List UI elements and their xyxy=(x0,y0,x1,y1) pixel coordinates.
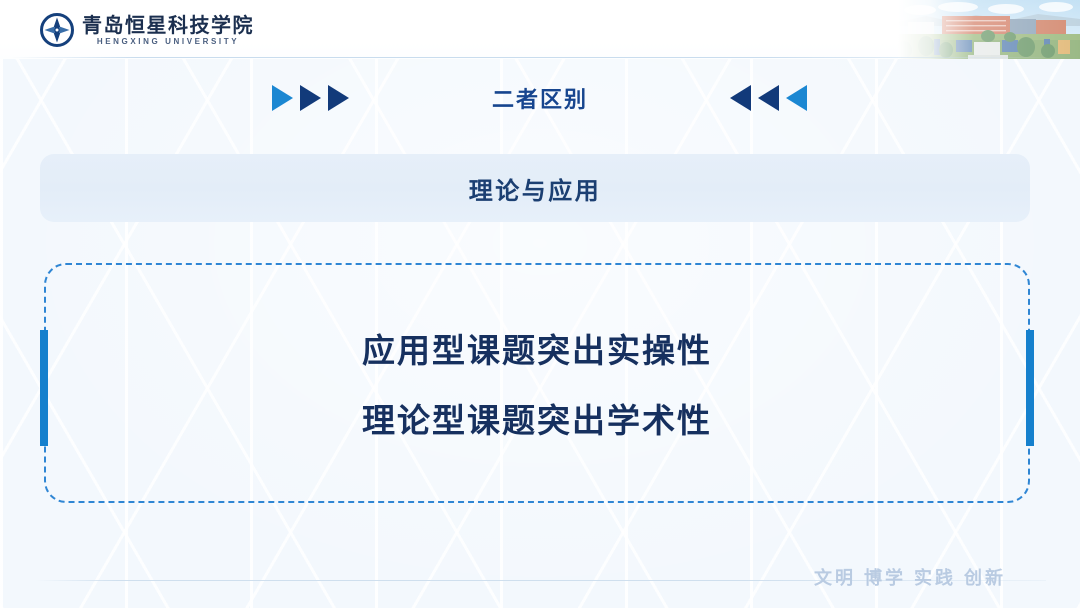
slide-canvas: 青岛恒星科技学院 HENGXING UNIVERSITY 二者区别 理论与应用 … xyxy=(0,0,1080,608)
logo-name-en: HENGXING UNIVERSITY xyxy=(82,38,254,46)
logo-name-cn: 青岛恒星科技学院 xyxy=(82,15,254,35)
accent-bar-left xyxy=(40,330,48,446)
content-card-body: 应用型课题突出实操性 理论型课题突出学术性 xyxy=(44,263,1030,503)
page-title: 二者区别 xyxy=(0,82,1080,114)
slide-header: 青岛恒星科技学院 HENGXING UNIVERSITY xyxy=(0,0,1080,60)
university-logo: 青岛恒星科技学院 HENGXING UNIVERSITY xyxy=(40,11,254,49)
subtitle-banner-text: 理论与应用 xyxy=(469,171,602,206)
campus-photo xyxy=(898,0,1080,59)
triangle-left-icon xyxy=(758,85,779,111)
subtitle-banner: 理论与应用 xyxy=(40,154,1030,222)
footer-motto: 文明 博学 实践 创新 xyxy=(814,564,1006,590)
content-line: 应用型课题突出实操性 xyxy=(362,324,712,372)
accent-bar-right xyxy=(1026,330,1034,446)
compass-emblem-logo-icon xyxy=(40,13,74,47)
content-line: 理论型课题突出学术性 xyxy=(362,394,712,442)
section-title-row: 二者区别 xyxy=(0,76,1080,120)
logo-text-block: 青岛恒星科技学院 HENGXING UNIVERSITY xyxy=(82,15,254,46)
triangle-left-icon xyxy=(786,85,807,111)
triangle-left-icon xyxy=(730,85,751,111)
right-arrow-group xyxy=(730,85,807,111)
header-divider xyxy=(10,57,1060,58)
